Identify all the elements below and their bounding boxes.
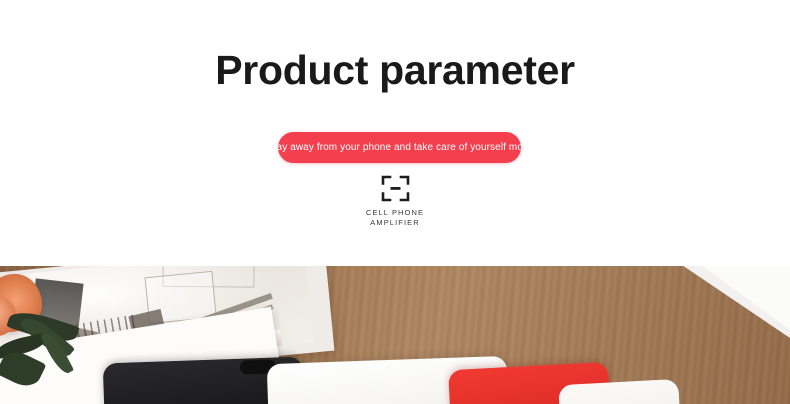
product-photo: E MOME — [0, 266, 790, 404]
brand-name: CELL PHONE AMPLIFIER — [366, 208, 424, 228]
photo-inner: E MOME — [0, 266, 790, 404]
intro-section: Product parameter Stay away from your ph… — [0, 0, 790, 266]
page-title: Product parameter — [0, 46, 790, 94]
brand-name-line1: CELL PHONE — [366, 208, 424, 218]
tagline-text: Stay away from your phone and take care … — [267, 142, 532, 154]
tagline-badge: Stay away from your phone and take care … — [278, 132, 521, 163]
product-parameter-page: Product parameter Stay away from your ph… — [0, 0, 790, 404]
scan-frame-icon — [381, 175, 410, 202]
brand-logo: CELL PHONE AMPLIFIER — [0, 175, 790, 228]
brand-name-line2: AMPLIFIER — [366, 218, 424, 228]
